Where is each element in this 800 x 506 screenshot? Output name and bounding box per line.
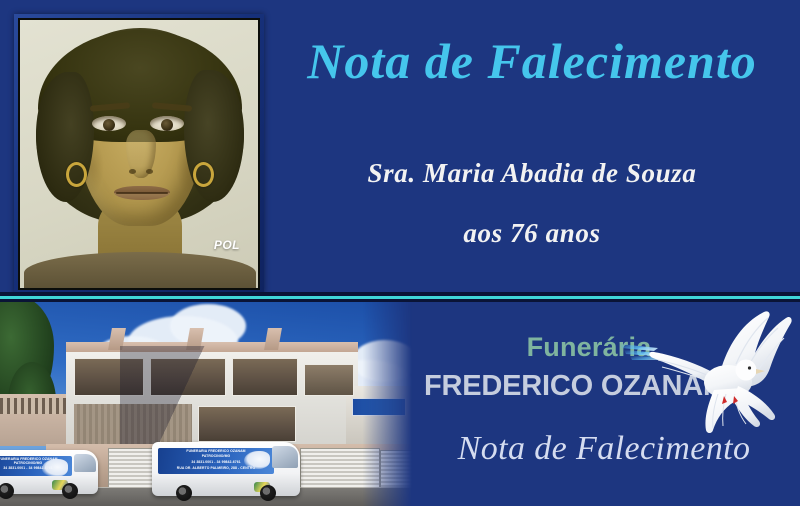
van-wheel xyxy=(176,485,192,501)
van-wheel xyxy=(260,485,276,501)
van-dove-icon xyxy=(42,459,68,476)
eye-left xyxy=(92,116,126,131)
brand-block: Funerária FREDERICO OZANAM xyxy=(404,302,800,506)
building-window xyxy=(232,358,298,396)
nostril-left xyxy=(129,169,136,174)
nostril-right xyxy=(146,169,153,174)
neighbor-building xyxy=(346,386,412,446)
shoulders xyxy=(24,252,256,288)
pupil-left xyxy=(103,119,115,131)
bottom-section: FUNERARIA FREDERICO OZANAM PATROCINIO/MG… xyxy=(0,302,800,506)
van-windshield xyxy=(272,446,298,468)
cloud xyxy=(352,340,412,382)
earring-right xyxy=(193,162,214,187)
top-section: POL Nota de Falecimento Sra. Maria Abadi… xyxy=(0,0,800,297)
neighbor-building-sign xyxy=(352,398,406,416)
van-wheel xyxy=(62,483,78,499)
funeral-home-photo: FUNERARIA FREDERICO OZANAM PATROCINIO/MG… xyxy=(0,302,412,506)
van-windshield xyxy=(74,454,96,472)
dove-icon xyxy=(618,308,796,434)
funeral-van: FUNERARIA FREDERICO OZANAM PATROCINIO/MG… xyxy=(0,450,98,494)
van-decal-band: FUNERARIA FREDERICO OZANAM PATROCINIO/MG… xyxy=(158,448,274,474)
earring-left xyxy=(66,162,87,187)
funeral-notice-card: POL Nota de Falecimento Sra. Maria Abadi… xyxy=(0,0,800,506)
eye-right xyxy=(150,116,184,131)
deceased-name: Sra. Maria Abadia de Souza xyxy=(272,158,792,189)
footer-note: Nota de Falecimento xyxy=(414,430,794,468)
section-divider xyxy=(0,292,800,302)
mouth-line xyxy=(116,192,168,194)
van-dove-icon xyxy=(244,451,270,469)
portrait-photo: POL xyxy=(18,18,260,290)
pupil-right xyxy=(161,119,173,131)
van-decal-band: FUNERARIA FREDERICO OZANAM PATROCINIO/MG… xyxy=(0,456,72,476)
deceased-age: aos 76 anos xyxy=(272,218,792,249)
page-title: Nota de Falecimento xyxy=(272,36,792,86)
funeral-van: FUNERARIA FREDERICO OZANAM PATROCINIO/MG… xyxy=(152,442,300,496)
photo-watermark: POL xyxy=(214,238,240,252)
building-window xyxy=(304,364,354,396)
nose xyxy=(126,130,156,178)
